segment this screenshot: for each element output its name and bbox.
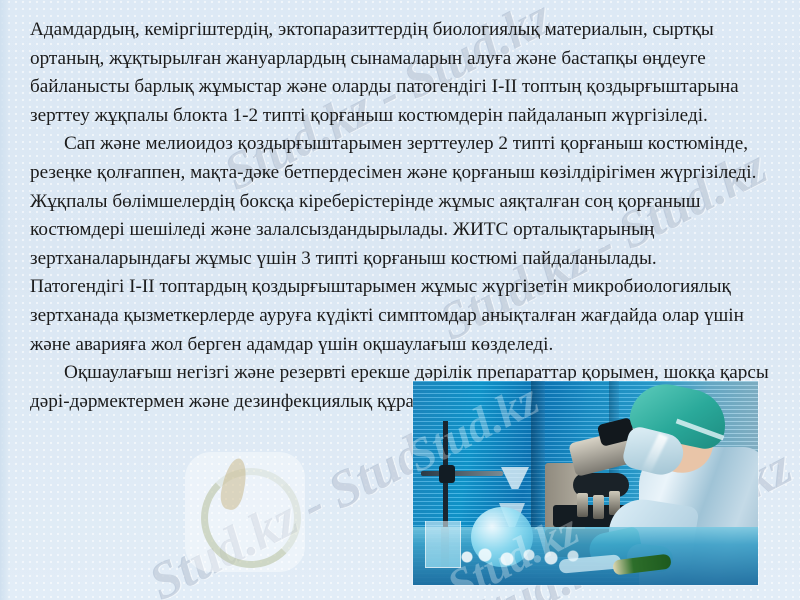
lab-beaker [425,521,461,568]
retort-stand-clamp [439,465,455,483]
slide-canvas: Stud.kz - Stud.kz Stud.kz - Stud.kz Stud… [0,0,800,600]
microscope-objective-1 [577,493,588,517]
stud-kz-logo-icon [185,452,305,572]
paragraph-1: Адамдардың, кеміргіштердің, эктопаразитт… [30,16,782,130]
logo-leaf-shape [218,456,250,511]
photo-window-mullion [531,381,545,529]
laboratory-photo: Stud.kz Stud.kz [413,381,758,585]
paragraph-3: Патогендігі I-II топтардың қоздырғыштары… [30,273,782,359]
logo-ring-shape [201,468,301,568]
slide-body-text: Адамдардың, кеміргіштердің, эктопаразитт… [30,16,782,416]
paragraph-2: Сап және мелиоидоз қоздырғыштарымен зерт… [30,130,782,273]
microscope-objective-2 [593,495,604,519]
retort-stand-arm [421,471,503,476]
